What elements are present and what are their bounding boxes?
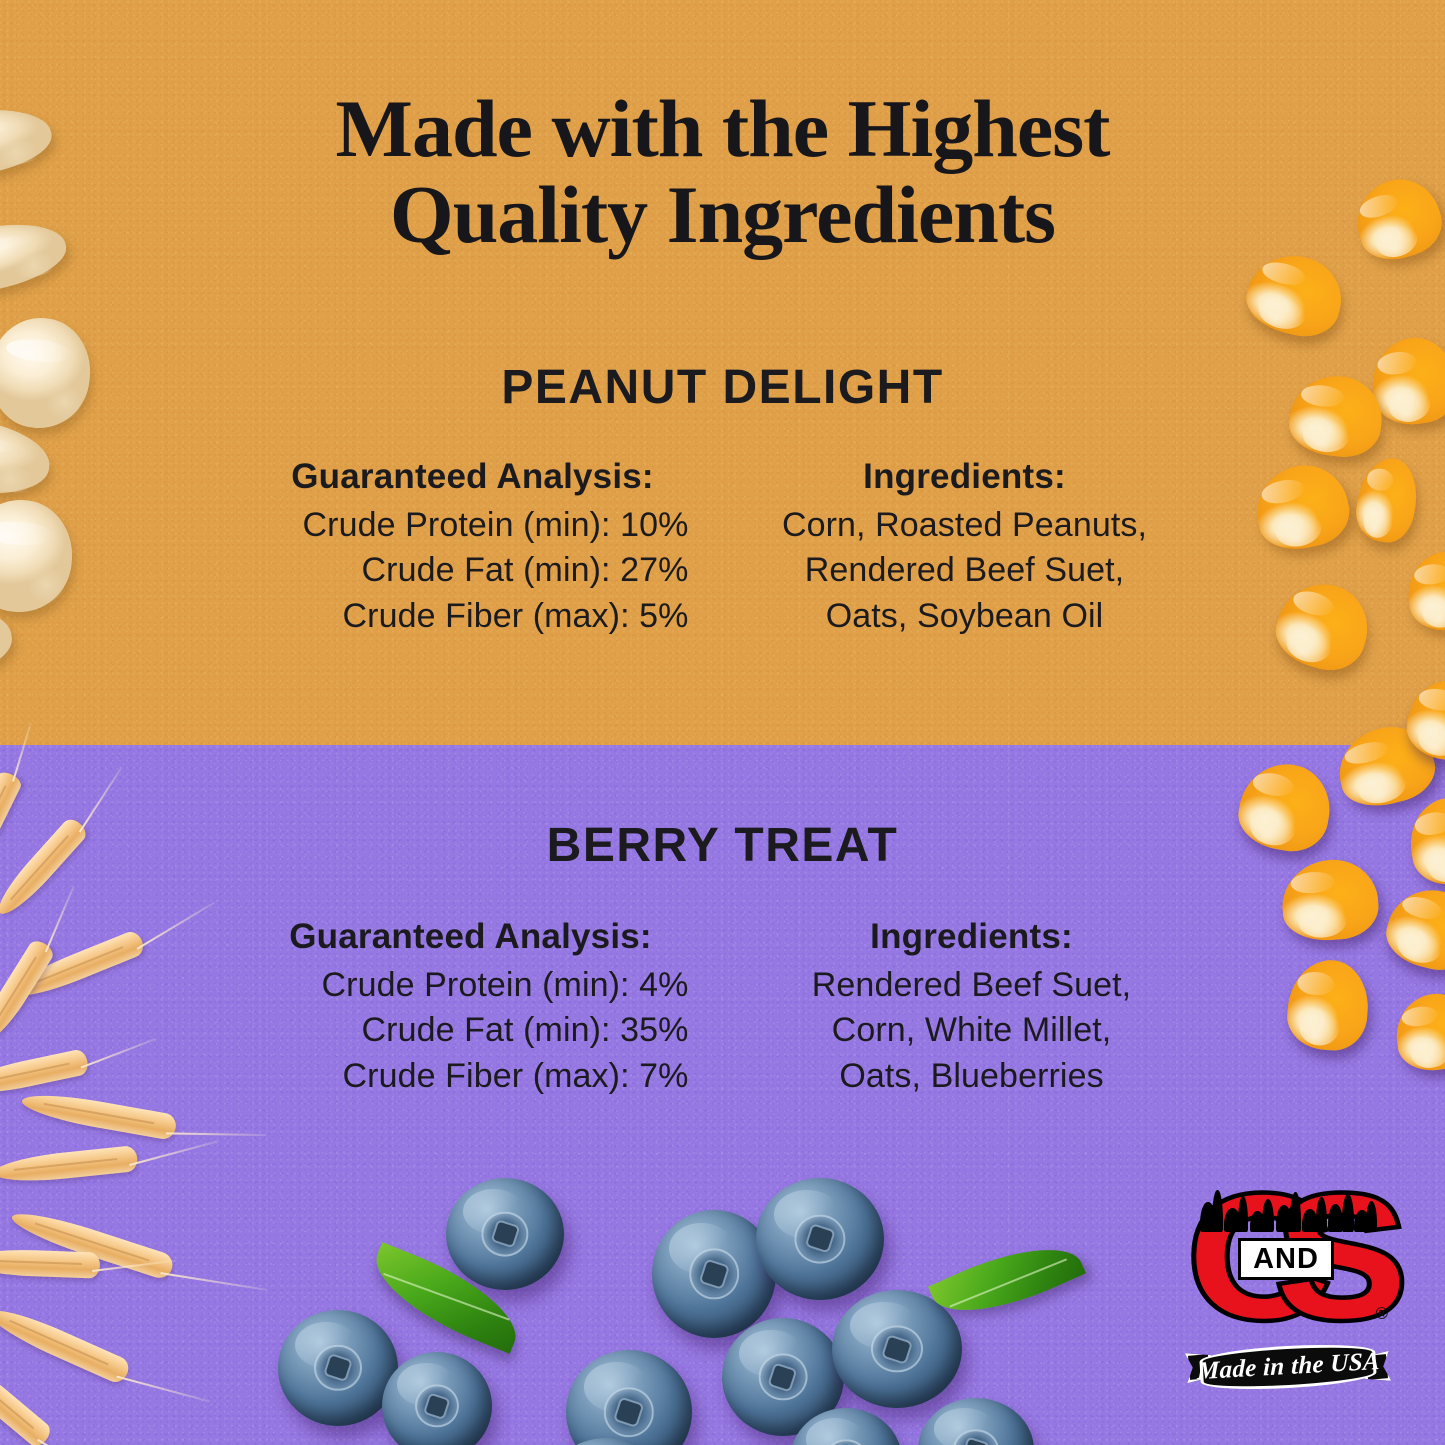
- logo-and-label: AND: [1253, 1245, 1319, 1274]
- made-in-usa-ribbon: Made in the USA: [1186, 1338, 1390, 1400]
- logo-and-badge: AND: [1238, 1238, 1334, 1280]
- ingredients-heading: Ingredients:: [741, 455, 1189, 499]
- berry-treat-facts: Guaranteed Analysis: Crude Protein (min)…: [0, 915, 1445, 1099]
- ingredients-line: Rendered Beef Suet,: [751, 963, 1193, 1009]
- ingredients-line: Rendered Beef Suet,: [741, 548, 1189, 594]
- berry-treat-analysis-column: Guaranteed Analysis: Crude Protein (min)…: [253, 915, 723, 1099]
- packaging-infographic: Made with the Highest Quality Ingredient…: [0, 0, 1445, 1445]
- analysis-line: Crude Fat (min): 27%: [257, 548, 689, 594]
- logo-lettermark: C S: [1190, 1186, 1386, 1341]
- peanut-delight-ingredients-column: Ingredients: Corn, Roasted Peanuts, Rend…: [719, 455, 1189, 639]
- page-headline: Made with the Highest Quality Ingredient…: [0, 86, 1445, 258]
- ingredients-heading: Ingredients:: [751, 915, 1193, 959]
- analysis-line: Crude Protein (min): 10%: [257, 503, 689, 549]
- peanut-delight-analysis-column: Guaranteed Analysis: Crude Protein (min)…: [257, 455, 719, 639]
- ribbon-band: Made in the USA: [1199, 1341, 1377, 1393]
- product-name-berry-treat: BERRY TREAT: [0, 818, 1445, 873]
- ingredients-line: Corn, Roasted Peanuts,: [741, 503, 1189, 549]
- c-and-s-brand-logo: C S: [1190, 1186, 1386, 1401]
- ingredients-line: Oats, Soybean Oil: [741, 594, 1189, 640]
- ingredients-line: Oats, Blueberries: [751, 1054, 1193, 1100]
- made-in-usa-label: Made in the USA: [1196, 1348, 1379, 1386]
- peanut-delight-facts: Guaranteed Analysis: Crude Protein (min)…: [0, 455, 1445, 639]
- analysis-line: Crude Fiber (max): 5%: [257, 594, 689, 640]
- analysis-heading: Guaranteed Analysis:: [253, 915, 689, 959]
- registered-trademark-icon: ®: [1375, 1304, 1388, 1324]
- ingredients-line: Corn, White Millet,: [751, 1008, 1193, 1054]
- analysis-heading: Guaranteed Analysis:: [257, 455, 689, 499]
- berry-treat-ingredients-column: Ingredients: Rendered Beef Suet, Corn, W…: [723, 915, 1193, 1099]
- headline-line-1: Made with the Highest: [336, 83, 1110, 174]
- analysis-line: Crude Protein (min): 4%: [253, 963, 689, 1009]
- headline-line-2: Quality Ingredients: [0, 172, 1445, 258]
- analysis-line: Crude Fiber (max): 7%: [253, 1054, 689, 1100]
- product-name-peanut-delight: PEANUT DELIGHT: [0, 360, 1445, 415]
- analysis-line: Crude Fat (min): 35%: [253, 1008, 689, 1054]
